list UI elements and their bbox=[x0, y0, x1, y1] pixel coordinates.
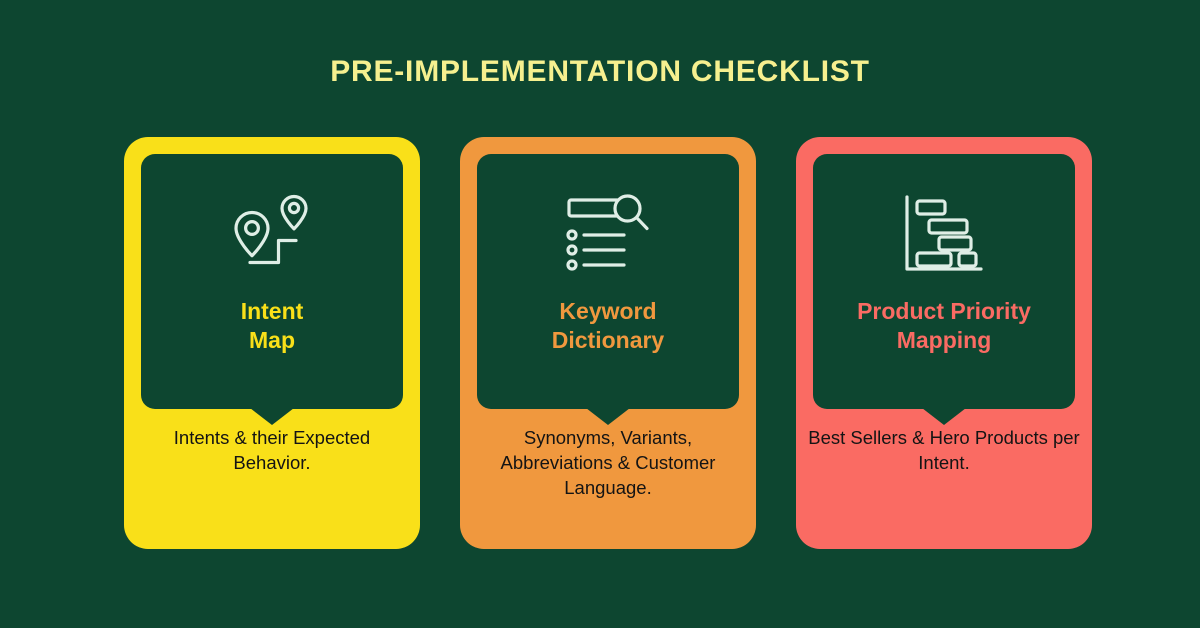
card-title: Product Priority Mapping bbox=[813, 297, 1075, 355]
checklist-card-product-priority-mapping[interactable]: Product Priority Mapping Best Sellers & … bbox=[796, 137, 1092, 549]
search-list-icon bbox=[477, 188, 739, 280]
card-panel: Intent Map bbox=[141, 154, 403, 409]
infographic-canvas: PRE-IMPLEMENTATION CHECKLIST bbox=[0, 0, 1200, 628]
card-description: Intents & their Expected Behavior. bbox=[134, 425, 410, 475]
card-title-line1: Product Priority bbox=[857, 298, 1031, 324]
checklist-card-row: Intent Map Intents & their Expected Beha… bbox=[124, 137, 1092, 549]
card-title: Keyword Dictionary bbox=[477, 297, 739, 355]
card-panel: Product Priority Mapping bbox=[813, 154, 1075, 409]
gantt-bar-chart-icon bbox=[813, 188, 1075, 280]
map-pins-route-icon bbox=[141, 188, 403, 280]
card-description: Best Sellers & Hero Products per Intent. bbox=[806, 425, 1082, 475]
card-title-line1: Keyword bbox=[559, 298, 656, 324]
card-title-line2: Dictionary bbox=[552, 327, 664, 353]
checklist-card-keyword-dictionary[interactable]: Keyword Dictionary Synonyms, Variants, A… bbox=[460, 137, 756, 549]
page-title: PRE-IMPLEMENTATION CHECKLIST bbox=[0, 52, 1200, 92]
card-description: Synonyms, Variants, Abbreviations & Cust… bbox=[470, 425, 746, 500]
panel-notch-icon bbox=[586, 408, 630, 425]
checklist-card-intent-map[interactable]: Intent Map Intents & their Expected Beha… bbox=[124, 137, 420, 549]
card-title-line2: Map bbox=[249, 327, 295, 353]
panel-notch-icon bbox=[250, 408, 294, 425]
card-panel: Keyword Dictionary bbox=[477, 154, 739, 409]
card-title-line2: Mapping bbox=[897, 327, 992, 353]
card-title: Intent Map bbox=[141, 297, 403, 355]
card-title-line1: Intent bbox=[241, 298, 304, 324]
panel-notch-icon bbox=[922, 408, 966, 425]
